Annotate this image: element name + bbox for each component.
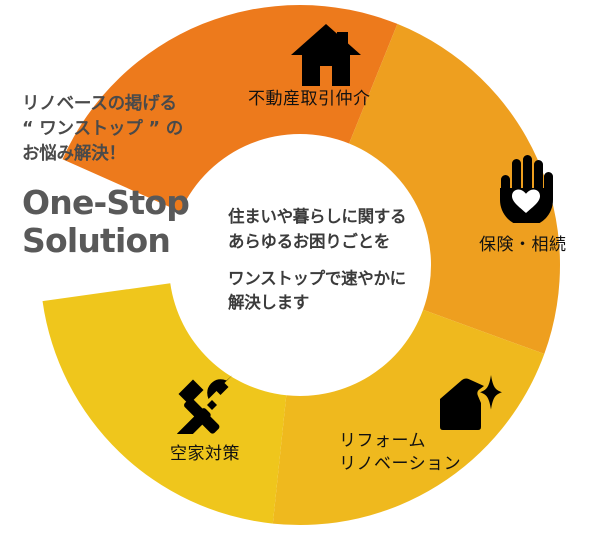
segment-label-insurance: 保険・相続 <box>479 234 567 257</box>
donut-segment-2[interactable] <box>273 310 544 525</box>
center-paragraph-2: ワンストップで速やかに 解決します <box>228 267 458 317</box>
lede-line-2: “ ワンストップ ” の <box>22 117 232 142</box>
segment-label-text-line1: リフォーム <box>339 430 461 453</box>
segment-label-text: 空家対策 <box>170 444 240 464</box>
center-p1-line1: 住まいや暮らしに関する <box>228 205 458 230</box>
house-sparkle-icon <box>434 375 502 437</box>
page-title-line1: One-Stop <box>22 184 232 222</box>
house-icon <box>291 24 361 90</box>
page-title: One-Stop Solution <box>22 184 232 261</box>
hand-heart-icon <box>497 155 555 227</box>
center-p2-line1: ワンストップで速やかに <box>228 267 458 292</box>
segment-label-text: 保険・相続 <box>479 235 567 255</box>
lede-line-3: お悩み解決！ <box>22 142 232 167</box>
intro-text-block: リノベースの掲げる “ ワンストップ ” の お悩み解決！ One-Stop S… <box>22 92 232 260</box>
segment-label-renovation: リフォーム リノベーション <box>339 430 461 476</box>
hammer-wrench-icon <box>176 372 243 438</box>
segment-label-text-line2: リノベーション <box>339 453 461 476</box>
center-p2-line2: 解決します <box>228 291 458 316</box>
diagram-canvas: 不動産取引仲介 保険・相続 リフォーム リノベーション 空家対策 リノベースの掲… <box>0 0 600 533</box>
segment-label-real-estate: 不動産取引仲介 <box>248 88 371 111</box>
center-description: 住まいや暮らしに関する あらゆるお困りごとを ワンストップで速やかに 解決します <box>228 205 458 316</box>
center-paragraph-1: 住まいや暮らしに関する あらゆるお困りごとを <box>228 205 458 255</box>
segment-label-vacant-house: 空家対策 <box>170 443 240 466</box>
donut-segment-3[interactable] <box>43 283 287 523</box>
segment-label-text: 不動産取引仲介 <box>248 89 371 109</box>
page-title-line2: Solution <box>22 222 232 260</box>
center-p1-line2: あらゆるお困りごとを <box>228 230 458 255</box>
lede-line-1: リノベースの掲げる <box>22 92 232 117</box>
